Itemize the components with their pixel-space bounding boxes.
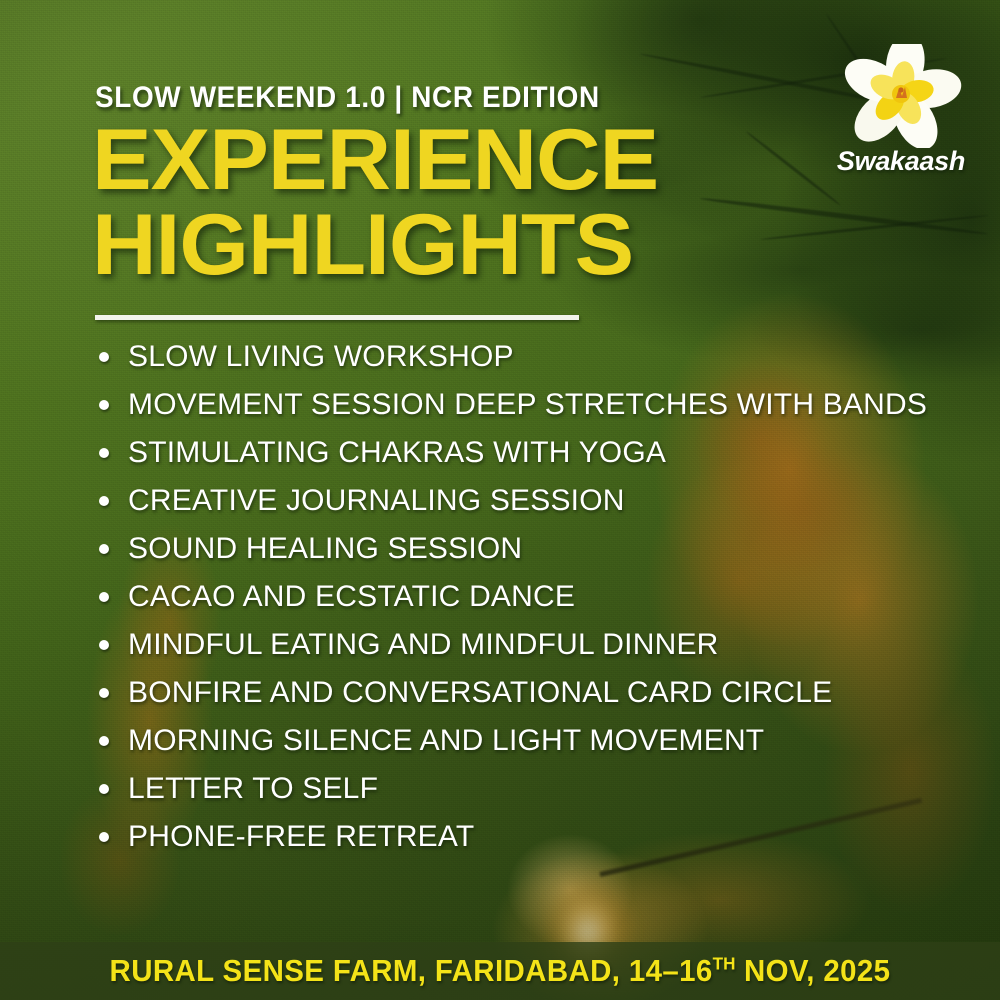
bullet-dot-icon: [99, 400, 109, 410]
list-item-label: PHONE-FREE RETREAT: [128, 820, 474, 854]
venue-date-text: RURAL SENSE FARM, FARIDABAD, 14–16TH NOV…: [110, 953, 891, 989]
bullet-dot-icon: [99, 832, 109, 842]
list-item-label: SOUND HEALING SESSION: [128, 532, 522, 566]
bullet-dot-icon: [99, 592, 109, 602]
list-item: CREATIVE JOURNALING SESSION: [92, 477, 972, 525]
poster-content: SLOW WEEKEND 1.0 | NCR EDITION EXPERIENC…: [0, 0, 1000, 1000]
brand-logo: Swakaash: [836, 44, 976, 184]
list-item: CACAO AND ECSTATIC DANCE: [92, 573, 972, 621]
bullet-dot-icon: [99, 352, 109, 362]
list-item-label: STIMULATING CHAKRAS WITH YOGA: [128, 436, 666, 470]
footer-bar: RURAL SENSE FARM, FARIDABAD, 14–16TH NOV…: [0, 942, 1000, 1000]
list-item-label: LETTER TO SELF: [128, 772, 378, 806]
bullet-dot-icon: [99, 688, 109, 698]
bullet-dot-icon: [99, 448, 109, 458]
list-item-label: MORNING SILENCE AND LIGHT MOVEMENT: [128, 724, 764, 758]
bullet-dot-icon: [99, 640, 109, 650]
date-tail-text: NOV, 2025: [735, 953, 890, 988]
ordinal-suffix: TH: [713, 954, 736, 974]
bullet-dot-icon: [99, 496, 109, 506]
list-item-label: BONFIRE AND CONVERSATIONAL CARD CIRCLE: [128, 676, 832, 710]
list-item: LETTER TO SELF: [92, 765, 972, 813]
poster-canvas: SLOW WEEKEND 1.0 | NCR EDITION EXPERIENC…: [0, 0, 1000, 1000]
bullet-dot-icon: [99, 784, 109, 794]
headline-line-2: HIGHLIGHTS: [92, 203, 658, 288]
bullet-dot-icon: [99, 736, 109, 746]
venue-text: RURAL SENSE FARM, FARIDABAD, 14–16: [110, 953, 713, 988]
list-item: BONFIRE AND CONVERSATIONAL CARD CIRCLE: [92, 669, 972, 717]
eyebrow-title: SLOW WEEKEND 1.0 | NCR EDITION: [95, 81, 600, 115]
list-item: PHONE-FREE RETREAT: [92, 813, 972, 861]
list-item: MOVEMENT SESSION DEEP STRETCHES WITH BAN…: [92, 381, 972, 429]
highlights-list: SLOW LIVING WORKSHOP MOVEMENT SESSION DE…: [92, 333, 972, 861]
headline-line-1: EXPERIENCE: [92, 118, 658, 203]
list-item-label: MOVEMENT SESSION DEEP STRETCHES WITH BAN…: [128, 388, 927, 422]
list-item: SLOW LIVING WORKSHOP: [92, 333, 972, 381]
plumeria-flower-icon: [836, 44, 966, 148]
list-item-label: CREATIVE JOURNALING SESSION: [128, 484, 625, 518]
list-item-label: SLOW LIVING WORKSHOP: [128, 340, 514, 374]
brand-wordmark: Swakaash: [836, 146, 966, 177]
list-item: SOUND HEALING SESSION: [92, 525, 972, 573]
bullet-dot-icon: [99, 544, 109, 554]
list-item-label: CACAO AND ECSTATIC DANCE: [128, 580, 575, 614]
page-title: EXPERIENCE HIGHLIGHTS: [92, 118, 658, 288]
title-divider: [95, 315, 579, 320]
list-item-label: MINDFUL EATING AND MINDFUL DINNER: [128, 628, 719, 662]
list-item: MINDFUL EATING AND MINDFUL DINNER: [92, 621, 972, 669]
list-item: STIMULATING CHAKRAS WITH YOGA: [92, 429, 972, 477]
list-item: MORNING SILENCE AND LIGHT MOVEMENT: [92, 717, 972, 765]
